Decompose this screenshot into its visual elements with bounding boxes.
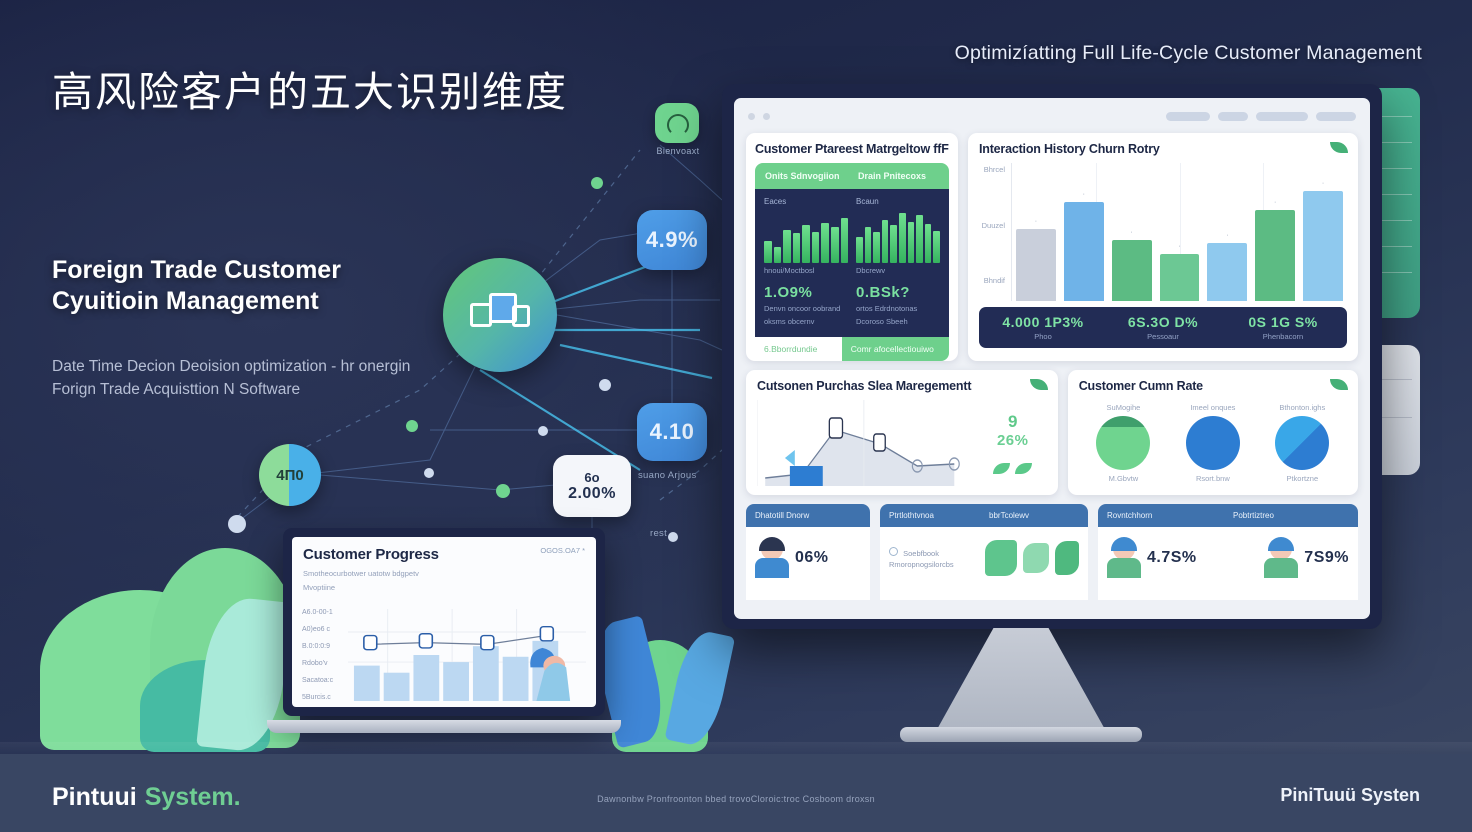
- pie-bottom-label: Rsort.bnw: [1186, 474, 1240, 483]
- funnel-pane-sub: Dbcrewv: [856, 266, 940, 276]
- circle-icon: [889, 547, 898, 556]
- widget-percent: 06%: [795, 549, 829, 567]
- bottom-widget-1: Dhatotill Dnorw 06%: [746, 504, 870, 600]
- laptop-y-axis: A6.0-00-1 A0)eo6 c B.0:0:0:9 Rdobo'v Sac…: [302, 609, 346, 701]
- funnel-stat-1: 1.O9%: [764, 284, 848, 301]
- y-tick: B.0:0:0:9: [302, 643, 346, 650]
- avatar: [1107, 538, 1141, 578]
- stat-value: 6S.3O D%: [1103, 314, 1223, 330]
- bar: ·: [1160, 254, 1200, 301]
- laptop-chart: [348, 609, 586, 701]
- widget-body: 06%: [746, 527, 870, 589]
- funnel-note-2a: ortos Edrdnotonas: [856, 304, 940, 314]
- funnel-note-1a: Denvn oncoor oobrand: [764, 304, 848, 314]
- bar: ·: [1303, 191, 1343, 301]
- funnel-note-2b: Dcoroso Sbeeh: [856, 317, 940, 327]
- stat-item: 0S 1G S% Phenbacorn: [1223, 314, 1343, 341]
- laptop-screen: Customer Progress OGOS.OA7 * Smotheocurb…: [292, 537, 596, 707]
- footer-brand-right: PiniTuuü Systen: [1280, 785, 1420, 806]
- node-label-2: rest: [650, 528, 690, 539]
- section-body-text: Date Time Decion Deoisiоn optimization -…: [52, 355, 412, 401]
- y-tick: A0)eo6 c: [302, 626, 346, 633]
- metric-badge-white[interactable]: 6o 2.00%: [553, 455, 631, 517]
- funnel-pane-1: Eaces hnoui/Moctbosl 1.O9% Denvn oncoor …: [764, 197, 848, 327]
- y-tick: 5Burcis.c: [302, 694, 346, 701]
- widget-note-1: Soebfbook: [889, 547, 979, 559]
- pie-group: SuMogihe M.Gbvtw Imeel onques Rsort.bnw …: [1079, 400, 1347, 486]
- metric-badge-circle[interactable]: 4П0: [259, 444, 321, 506]
- widget-body: 4.7S% 7S9%: [1098, 527, 1358, 589]
- stat-label: Phenbacorn: [1223, 332, 1343, 341]
- avatar: [1264, 538, 1298, 578]
- dashboard-screen: Customer Ptareest Matrgeltow ffFgyvaxje …: [734, 98, 1370, 619]
- funnel-footer[interactable]: 6.Bborrdundie Comr afocellectiouiwo: [755, 337, 949, 361]
- metric-badge-1[interactable]: 4.9%: [637, 210, 707, 270]
- toolbar-pill[interactable]: [1256, 112, 1308, 121]
- bar-plot-area: · · · · · · ·: [1011, 163, 1347, 301]
- widget-percent: 4.7S%: [1147, 549, 1197, 567]
- pie-bottom-label: Ptkortzne: [1275, 474, 1329, 483]
- page-title: 高风险客户的五大识别维度: [52, 58, 568, 118]
- area-chart: [757, 400, 971, 486]
- bar: ·: [1016, 229, 1056, 301]
- card-customer-funnel: Customer Ptareest Matrgeltow ffFgyvaxje …: [746, 133, 958, 361]
- widget-note-2: Rmoropnogsilorcbs: [889, 559, 979, 570]
- funnel-foot-left[interactable]: 6.Bborrdundie: [755, 337, 842, 361]
- funnel-stat-2: 0.BSk?: [856, 284, 940, 301]
- hub-icon[interactable]: [443, 258, 557, 372]
- bar-series: · · · · · · ·: [1012, 163, 1347, 301]
- node-label-1: suano Arjous: [638, 470, 708, 481]
- metric-badge-2[interactable]: 4.10: [637, 403, 707, 461]
- monitor-frame: Customer Ptareest Matrgeltow ffFgyvaxje …: [722, 84, 1382, 629]
- window-dot-icon: [748, 113, 755, 120]
- funnel-tab-2[interactable]: Drain Pnitecoxs: [858, 171, 939, 181]
- leaf-chip-icon[interactable]: [655, 103, 699, 143]
- laptop-subtitle: Smotheocurbotwer uatotw bdgpetv: [303, 569, 585, 578]
- y-axis-labels: Bhrcel Duuzel Bhndif: [979, 163, 1005, 301]
- card-interaction-history: Interaction History Churn Rotry Bhrcel D…: [968, 133, 1358, 361]
- section-subtitle: Foreign Trade Customer Cyuitioin Managem…: [52, 255, 432, 317]
- chip-label: Bienvoaxt: [645, 146, 711, 156]
- pie-top-label: Bthonton.ighs: [1275, 403, 1329, 412]
- avatar: [755, 538, 789, 578]
- card-title: Customer Ptareest Matrgeltow ffFgyvaxje: [755, 142, 949, 156]
- widget-note-text: Soebfbook: [903, 549, 939, 558]
- illustration-blob: [985, 540, 1017, 576]
- badge-white-line1: 6o: [584, 470, 599, 485]
- stat-value: 0S 1G S%: [1223, 314, 1343, 330]
- widget-body: Soebfbook Rmoropnogsilorcbs: [880, 527, 1088, 589]
- y-tick: Rdobo'v: [302, 660, 346, 667]
- stat-item: 6S.3O D% Pessoaur: [1103, 314, 1223, 341]
- stat-item: 4.000 1P3% Phoo: [983, 314, 1103, 341]
- mini-bar-chart-2: [856, 209, 940, 263]
- pie-bottom-label: M.Gbvtw: [1096, 474, 1150, 483]
- dashboard-row-top: Customer Ptareest Matrgeltow ffFgyvaxje …: [746, 133, 1358, 361]
- y-tick: Bhrcel: [979, 165, 1005, 174]
- illustration-blob: [1023, 543, 1049, 573]
- bottom-widget-3: Rovntchhorn Pobtrtiztreo 4.7S% 7S9%: [1098, 504, 1358, 600]
- dashboard-topbar: [746, 108, 1358, 124]
- footer-bar: PintuuiSystem. Dawnonbw Pronfroonton bbe…: [0, 754, 1472, 832]
- card-title: Customer Cumn Rate: [1079, 379, 1347, 393]
- pie-chart-lightblue: [1275, 416, 1329, 470]
- area-chart-row: 9 26%: [757, 400, 1047, 486]
- y-tick: Sacatoa:c: [302, 677, 346, 684]
- bar: ·: [1207, 243, 1247, 301]
- funnel-pane-2: Bcaun Dbcrewv 0.BSk? ortos Edrdnotonas D…: [856, 197, 940, 327]
- monitor-stand: [935, 628, 1107, 733]
- widget-header-label: Pobtrtiztreo: [1233, 511, 1349, 520]
- stats-strip: 4.000 1P3% Phoo 6S.3O D% Pessoaur 0S 1G …: [979, 307, 1347, 348]
- laptop-base: [267, 720, 621, 733]
- funnel-tabs[interactable]: Onits Sdnvogiion Drain Pnitecoxs: [755, 163, 949, 189]
- kpi-primary: 9: [979, 412, 1047, 432]
- toolbar-pill[interactable]: [1316, 112, 1356, 121]
- pie-chart-green: [1096, 416, 1150, 470]
- widget-header: Dhatotill Dnorw: [746, 504, 870, 527]
- pie-item: Bthonton.ighs Ptkortzne: [1275, 403, 1329, 483]
- dashboard-row-middle: Cutsonen Purchas Slea Maregementt: [746, 370, 1358, 495]
- funnel-body: Eaces hnoui/Moctbosl 1.O9% Denvn oncoor …: [755, 189, 949, 337]
- toolbar-pill[interactable]: [1166, 112, 1210, 121]
- card-purchase-management: Cutsonen Purchas Slea Maregementt: [746, 370, 1058, 495]
- widget-header-label: Dhatotill Dnorw: [755, 511, 861, 520]
- widget-percent: 7S9%: [1304, 549, 1349, 567]
- laptop-frame: Customer Progress OGOS.OA7 * Smotheocurb…: [283, 528, 605, 733]
- y-tick: Bhndif: [979, 276, 1005, 285]
- mini-bar-chart-1: [764, 209, 848, 263]
- bar: ·: [1255, 210, 1295, 301]
- laptop-legend: Mvoptiine: [303, 583, 585, 592]
- laptop-corner-label: OGOS.OA7 *: [540, 546, 585, 555]
- toolbar-pill[interactable]: [1218, 112, 1248, 121]
- funnel-foot-right[interactable]: Comr afocellectiouiwo: [842, 337, 949, 361]
- top-right-heading: Optimizíatting Full Life-Cycle Customer …: [955, 42, 1422, 65]
- monitor-base: [900, 727, 1142, 742]
- funnel-tab-1[interactable]: Onits Sdnvogiion: [765, 171, 846, 181]
- purchase-kpi: 9 26%: [979, 412, 1047, 474]
- bar: ·: [1064, 202, 1104, 301]
- y-tick: A6.0-00-1: [302, 609, 346, 616]
- laptop-lid: Customer Progress OGOS.OA7 * Smotheocurb…: [283, 528, 605, 716]
- widget-header-label: Ptrtlothtvnoa: [889, 511, 979, 520]
- pie-top-label: Imeel onques: [1186, 403, 1240, 412]
- pie-item: Imeel onques Rsort.bnw: [1186, 403, 1240, 483]
- widget-header: Ptrtlothtvnoa bbrTcolewv: [880, 504, 1088, 527]
- bar: ·: [1112, 240, 1152, 301]
- stat-value: 4.000 1P3%: [983, 314, 1103, 330]
- bar-chart: Bhrcel Duuzel Bhndif · · · ·: [979, 163, 1347, 301]
- widget-header-label: bbrTcolewv: [989, 511, 1079, 520]
- pie-top-label: SuMogihe: [1096, 403, 1150, 412]
- funnel-pane-sub: hnoui/Moctbosl: [764, 266, 848, 276]
- pie-item: SuMogihe M.Gbvtw: [1096, 403, 1150, 483]
- screens-icon: [470, 293, 530, 337]
- window-dot-icon: [763, 113, 770, 120]
- card-churn-rate: Customer Cumn Rate SuMogihe M.Gbvtw Imee…: [1068, 370, 1358, 495]
- funnel-pane-label: Bcaun: [856, 197, 940, 206]
- footer-caption: Dawnonbw Pronfroonton bbed trovoCloroic:…: [0, 794, 1472, 804]
- bottom-widget-2: Ptrtlothtvnoa bbrTcolewv Soebfbook Rmoro…: [880, 504, 1088, 600]
- dashboard-row-bottom: Dhatotill Dnorw 06% Ptrtlothtvnoa bbrTco…: [746, 504, 1358, 600]
- kpi-secondary: 26%: [979, 432, 1047, 449]
- badge-white-line2: 2.00%: [568, 485, 616, 503]
- card-title: Cutsonen Purchas Slea Maregementt: [757, 379, 1047, 393]
- widget-header-label: Rovntchhorn: [1107, 511, 1223, 520]
- stat-label: Pessoaur: [1103, 332, 1223, 341]
- stat-label: Phoo: [983, 332, 1103, 341]
- poster-canvas: 高风险客户的五大识别维度 Optimizíatting Full Life-Cy…: [0, 0, 1472, 832]
- pie-chart-blue: [1186, 416, 1240, 470]
- leaf-pair-icon: [979, 463, 1047, 474]
- illustration-blob: [1055, 541, 1079, 575]
- funnel-note-1b: oksms obcernv: [764, 317, 848, 327]
- funnel-pane-label: Eaces: [764, 197, 848, 206]
- card-title: Interaction History Churn Rotry: [979, 142, 1347, 156]
- y-tick: Duuzel: [979, 221, 1005, 230]
- widget-header: Rovntchhorn Pobtrtiztreo: [1098, 504, 1358, 527]
